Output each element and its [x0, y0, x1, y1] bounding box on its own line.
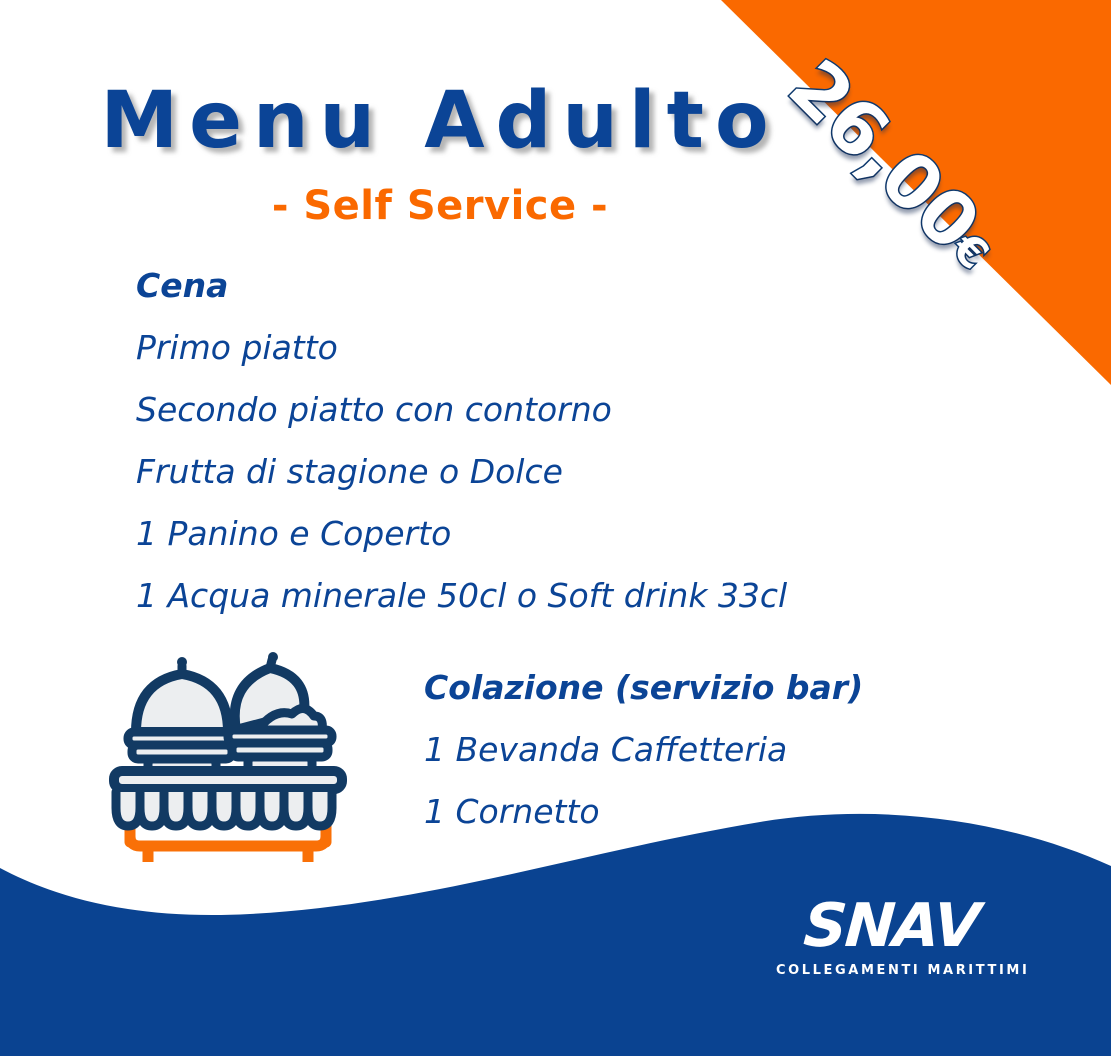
- dinner-section: Cena Primo piatto Secondo piatto con con…: [136, 255, 896, 627]
- snav-logo: SNAV COLLEGAMENTI MARITTIMI: [776, 896, 1006, 977]
- menu-poster: 26,00€ Menu Adulto - Self Service - Cena…: [0, 0, 1111, 1056]
- list-item: 1 Panino e Coperto: [136, 503, 896, 565]
- page-title: Menu Adulto: [0, 82, 880, 160]
- dinner-heading: Cena: [136, 255, 896, 317]
- list-item: Secondo piatto con contorno: [136, 379, 896, 441]
- list-item: 1 Bevanda Caffetteria: [424, 719, 1044, 781]
- buffet-table-icon: [108, 640, 348, 862]
- logo-wordmark: SNAV: [774, 896, 1008, 956]
- breakfast-heading: Colazione (servizio bar): [424, 657, 1044, 719]
- list-item: 1 Acqua minerale 50cl o Soft drink 33cl: [136, 565, 896, 627]
- breakfast-section: Colazione (servizio bar) 1 Bevanda Caffe…: [424, 657, 1044, 843]
- page-subtitle: - Self Service -: [0, 186, 880, 226]
- list-item: Primo piatto: [136, 317, 896, 379]
- list-item: 1 Cornetto: [424, 781, 1044, 843]
- logo-tagline: COLLEGAMENTI MARITTIMI: [776, 964, 1006, 977]
- list-item: Frutta di stagione o Dolce: [136, 441, 896, 503]
